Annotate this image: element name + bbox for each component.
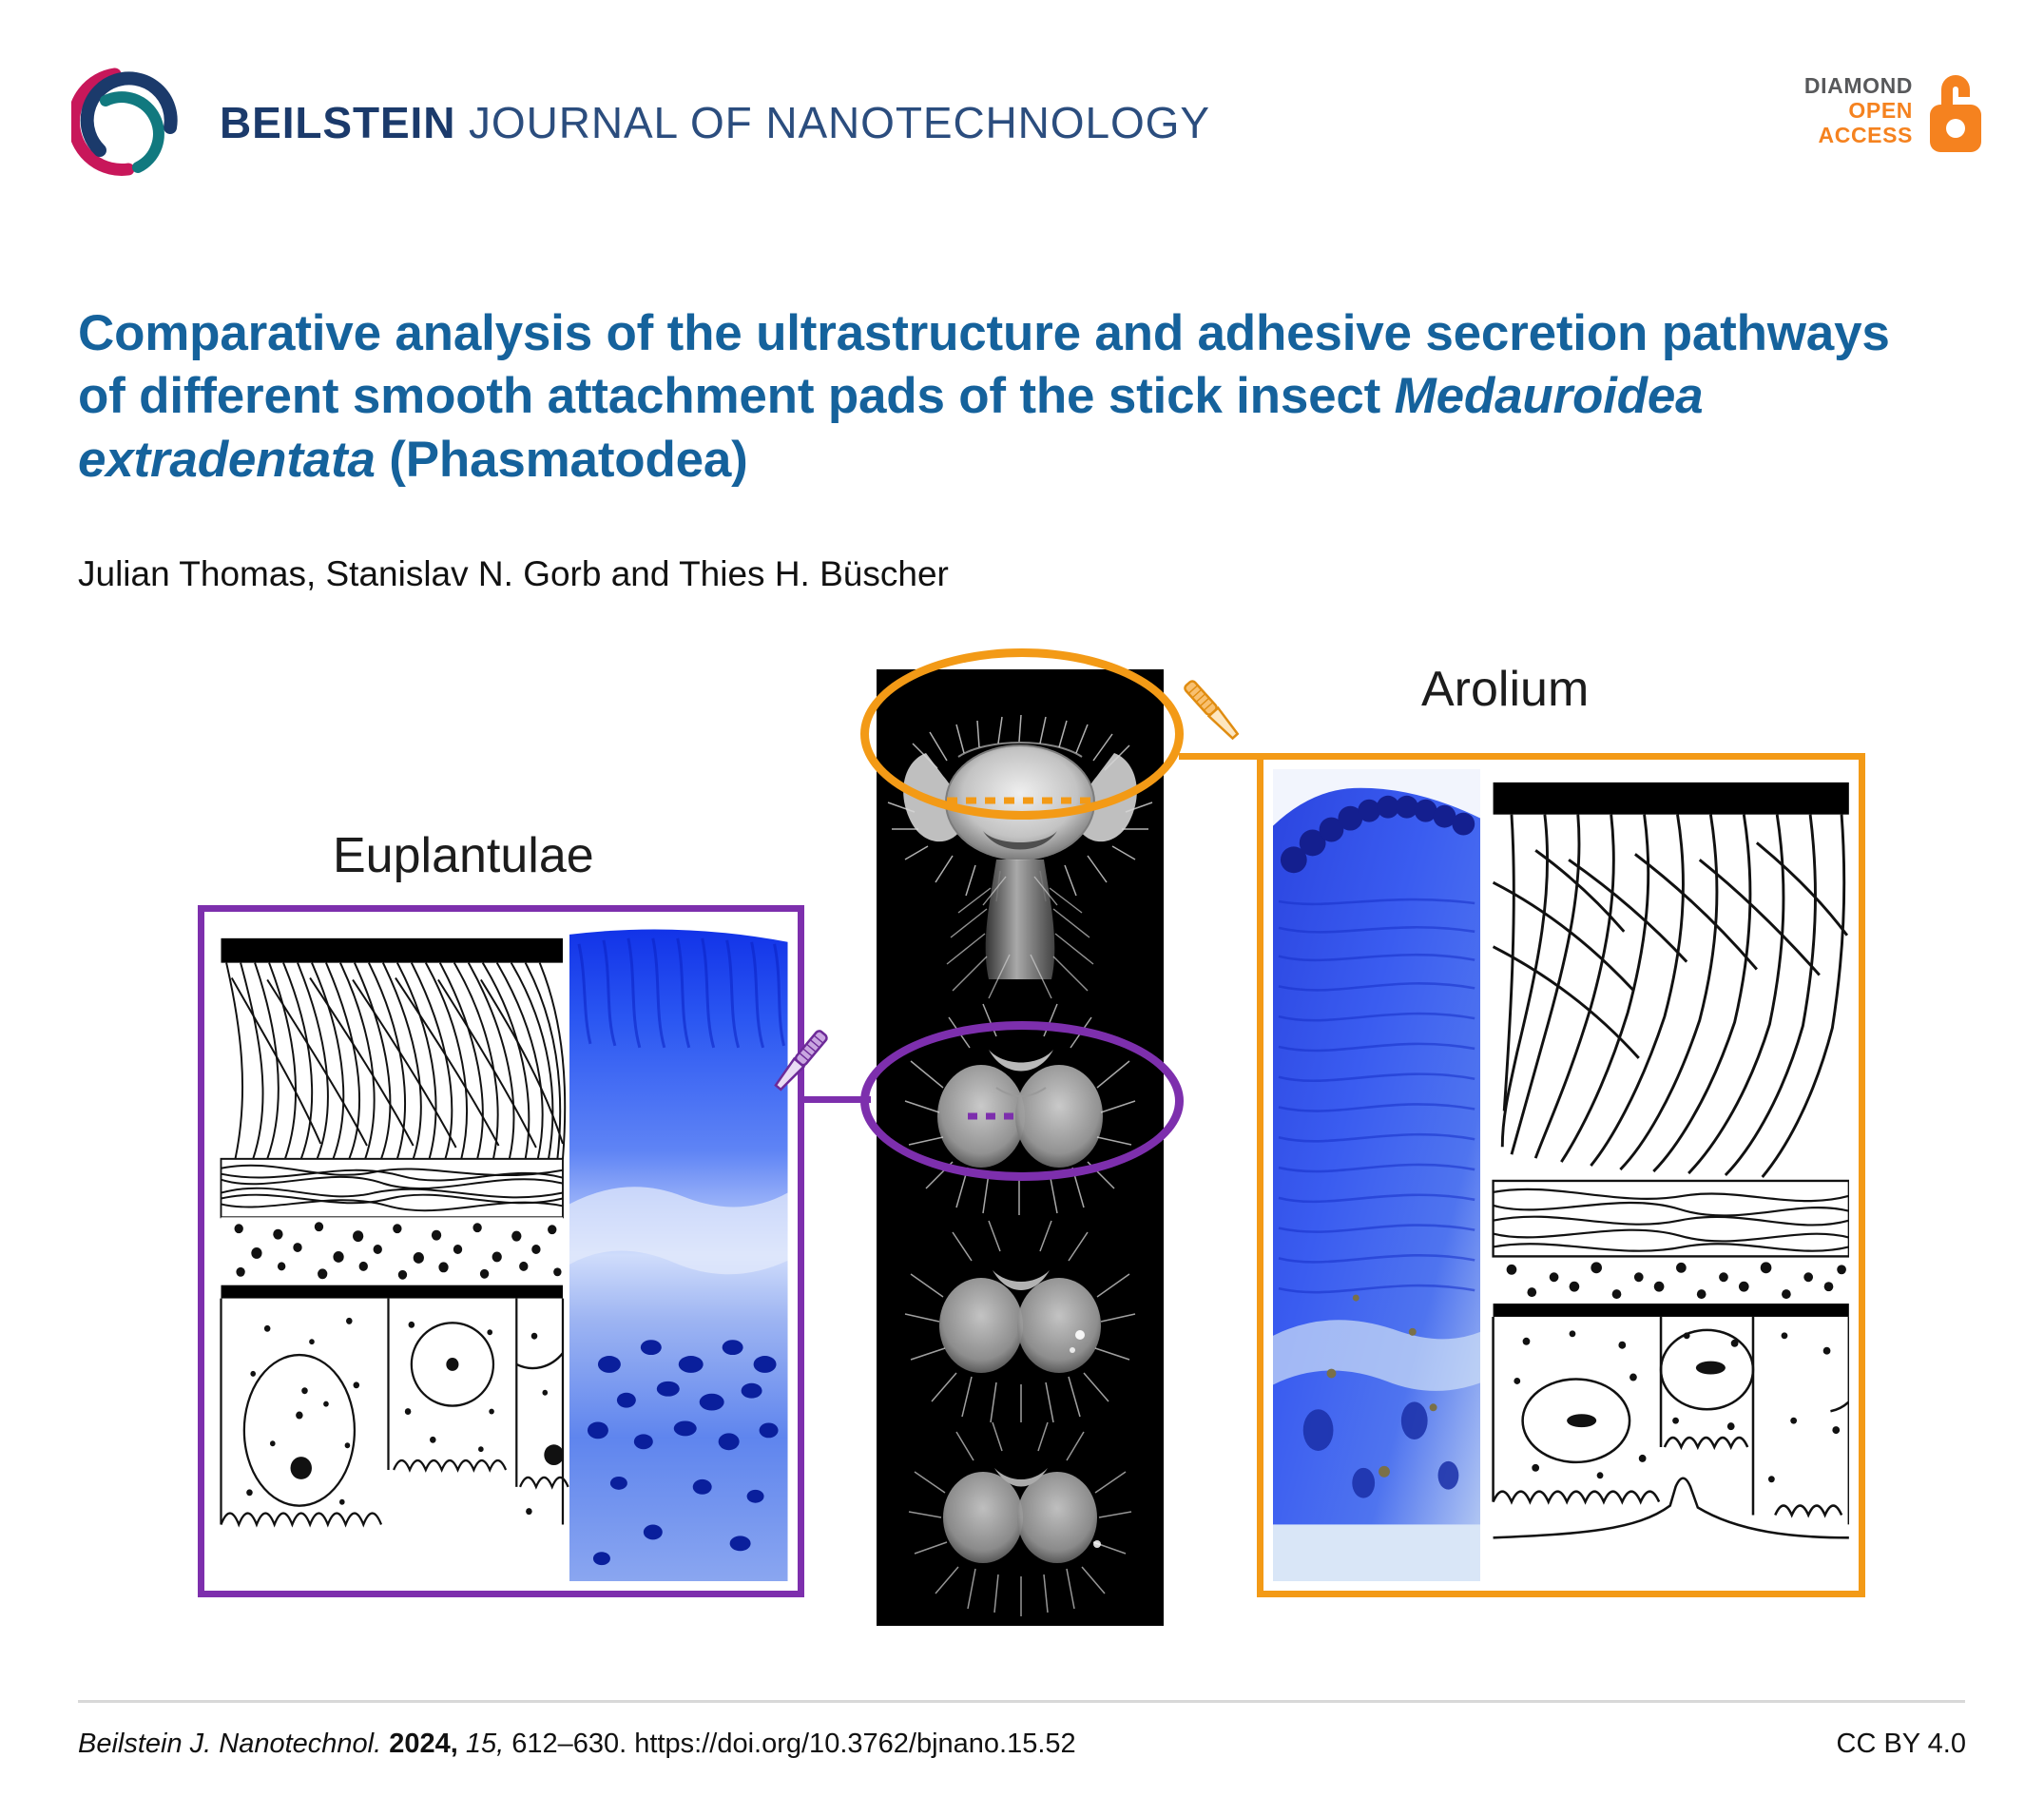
arolium-label: Arolium	[1421, 661, 1589, 718]
open-lock-icon	[1926, 67, 1985, 154]
footer-divider	[78, 1700, 1965, 1703]
arolium-schematic-drawing	[1480, 769, 1849, 1581]
scalpel-icon	[1177, 667, 1245, 753]
journal-brand[interactable]: BEILSTEIN JOURNAL OF NANOTECHNOLOGY	[71, 59, 1210, 181]
citation-pages-doi: 612–630. https://doi.org/10.3762/bjnano.…	[504, 1729, 1075, 1759]
euplantulae-histology-image	[569, 921, 788, 1581]
oa-diamond-label: DIAMOND	[1804, 73, 1913, 98]
diamond-open-access-badge[interactable]: DIAMOND OPEN ACCESS	[1804, 67, 1985, 154]
citation-journal: Beilstein J. Nanotechnol.	[78, 1729, 381, 1759]
euplantulae-label: Euplantulae	[333, 827, 594, 884]
oa-access-label: ACCESS	[1804, 123, 1913, 147]
citation-year: 2024,	[389, 1729, 458, 1759]
author-list: Julian Thomas, Stanislav N. Gorb and Thi…	[78, 553, 949, 595]
arolium-panel	[1257, 753, 1865, 1597]
arolium-callout-ellipse	[860, 648, 1184, 820]
graphical-abstract: Euplantulae Arolium	[0, 647, 2044, 1654]
brand-light: JOURNAL OF NANOTECHNOLOGY	[455, 98, 1210, 147]
citation-volume: 15,	[466, 1729, 504, 1759]
oa-open-label: OPEN	[1804, 98, 1913, 123]
euplantulae-callout-ellipse	[860, 1021, 1184, 1181]
euplantulae-panel	[198, 905, 804, 1597]
page-header: BEILSTEIN JOURNAL OF NANOTECHNOLOGY DIAM…	[0, 0, 2044, 190]
article-title: Comparative analysis of the ultrastructu…	[78, 302, 1941, 493]
license-label: CC BY 4.0	[1837, 1729, 1966, 1760]
journal-title-text: BEILSTEIN JOURNAL OF NANOTECHNOLOGY	[220, 95, 1210, 145]
title-part-2: (Phasmatodea)	[376, 432, 748, 488]
citation-line: Beilstein J. Nanotechnol. 2024, 15, 612–…	[78, 1729, 1076, 1760]
arolium-histology-image	[1273, 769, 1480, 1581]
beilstein-triple-arc-logo	[71, 59, 193, 181]
scalpel-icon	[766, 1017, 835, 1103]
euplantulae-schematic-drawing	[214, 921, 569, 1581]
open-access-labels: DIAMOND OPEN ACCESS	[1804, 73, 1913, 148]
brand-bold: BEILSTEIN	[220, 98, 455, 147]
arolium-connector-line	[1179, 753, 1264, 760]
